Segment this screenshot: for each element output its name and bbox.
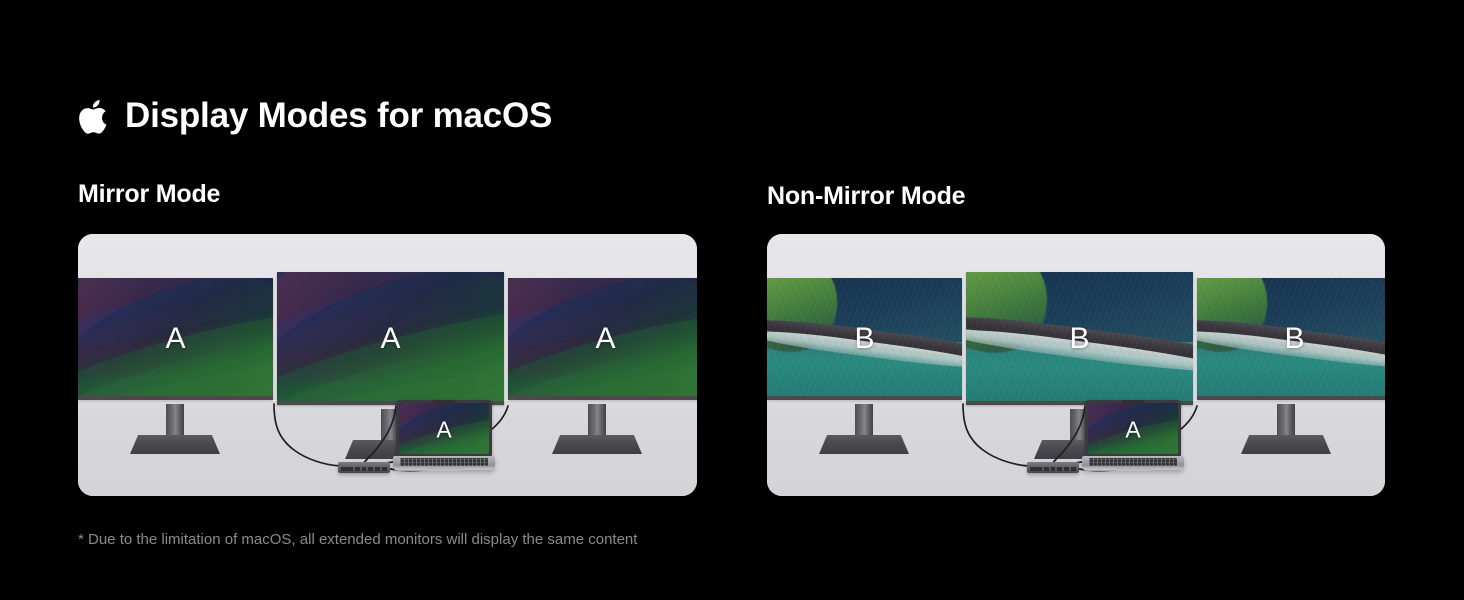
laptop-2-keyboard (1089, 458, 1177, 466)
monitor-1-letter: A (165, 324, 185, 354)
monitor-2-letter: A (380, 324, 400, 354)
monitor-3-screen: B (1197, 278, 1385, 400)
laptop-1-base (393, 456, 495, 471)
laptop-2-letter: A (1125, 419, 1140, 442)
laptop-1-keyboard (400, 458, 488, 466)
laptop-2: A (1085, 400, 1181, 471)
dock-ports (1030, 467, 1076, 471)
monitor-1-letter: B (854, 324, 874, 354)
page-header: Display Modes for macOS (78, 96, 552, 136)
mirror-mode-label: Mirror Mode (78, 180, 220, 209)
footnote-text: * Due to the limitation of macOS, all ex… (78, 531, 637, 548)
monitor-3: A (508, 278, 697, 400)
monitor-1-screen: B (767, 278, 962, 400)
monitor-3-stand-base (1241, 435, 1331, 454)
monitor-1-stand-base (819, 435, 909, 454)
monitor-1: A (78, 278, 273, 400)
laptop-1-trackpad (427, 467, 462, 471)
monitor-2-screen: A (277, 272, 504, 405)
monitor-2: A (277, 272, 504, 405)
monitor-3-screen: A (508, 278, 697, 400)
laptop-1-letter: A (436, 419, 451, 442)
laptop-2-trackpad (1116, 467, 1151, 471)
dock-ports (341, 467, 387, 471)
monitor-2: B (966, 272, 1193, 405)
monitor-2-letter: B (1069, 324, 1089, 354)
laptop-notch-icon (1122, 400, 1144, 403)
laptop-1: A (396, 400, 492, 471)
laptop-2-screen: A (1088, 403, 1178, 454)
laptop-notch-icon (433, 400, 455, 403)
monitor-1: B (767, 278, 962, 400)
monitor-3-stand-base (552, 435, 642, 454)
non-mirror-mode-illustration: B B B (767, 234, 1385, 496)
monitor-1-screen: A (78, 278, 273, 400)
monitor-3: B (1197, 278, 1385, 400)
monitor-2-screen: B (966, 272, 1193, 405)
laptop-2-base (1082, 456, 1184, 471)
apple-logo-icon (78, 98, 108, 135)
monitor-3-letter: B (1284, 324, 1304, 354)
monitor-1-stand-base (130, 435, 220, 454)
monitor-1-stand-neck (855, 404, 873, 435)
monitor-3-letter: A (595, 324, 615, 354)
monitor-3-stand-neck (588, 404, 606, 435)
monitor-1-stand-neck (166, 404, 184, 435)
non-mirror-mode-label: Non-Mirror Mode (767, 182, 965, 211)
laptop-1-lid: A (396, 400, 492, 456)
monitor-3-stand-neck (1277, 404, 1295, 435)
mirror-mode-illustration: A A A (78, 234, 697, 496)
laptop-2-lid: A (1085, 400, 1181, 456)
page-title: Display Modes for macOS (125, 96, 552, 136)
usb-c-dock (338, 462, 390, 473)
laptop-1-screen: A (399, 403, 489, 454)
usb-c-dock (1027, 462, 1079, 473)
